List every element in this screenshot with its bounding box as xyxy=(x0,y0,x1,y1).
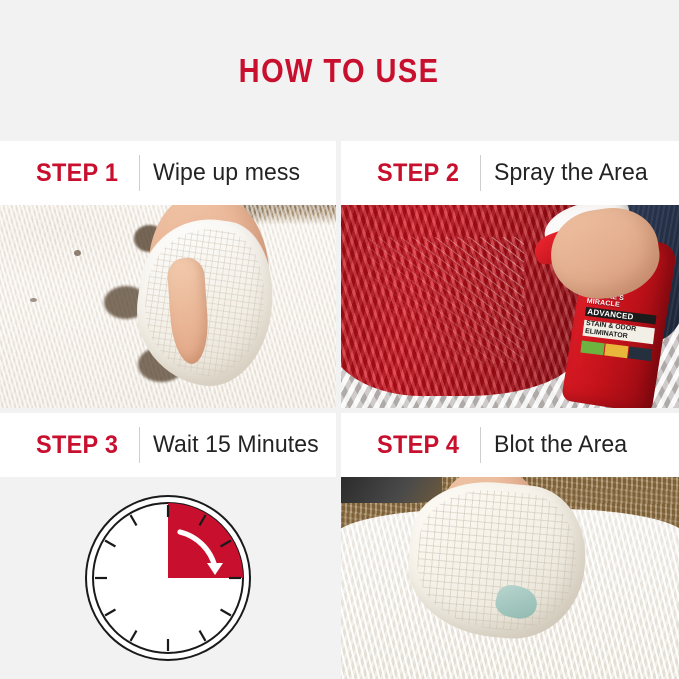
dirt-speck xyxy=(74,250,81,256)
how-to-use-infographic: HOW TO USE STEP 1 Wipe up mess xyxy=(0,0,679,679)
page-header: HOW TO USE xyxy=(0,0,679,141)
clock-elapsed-wedge xyxy=(168,503,243,578)
step-1-number: STEP 1 xyxy=(36,159,118,188)
step-panel-1: STEP 1 Wipe up mess xyxy=(0,141,336,408)
step-cell-1: STEP 1 Wipe up mess xyxy=(0,141,336,408)
step-1-media xyxy=(0,205,336,408)
step-3-header: STEP 3 Wait 15 Minutes xyxy=(0,413,336,477)
step-2-title: Spray the Area xyxy=(494,159,648,187)
step-4-photo xyxy=(341,477,679,679)
step-4-title: Blot the Area xyxy=(494,431,627,459)
step-4-number: STEP 4 xyxy=(377,431,459,460)
step-cell-3: STEP 3 Wait 15 Minutes xyxy=(0,408,336,679)
step-3-media xyxy=(0,477,336,679)
step-4-header: STEP 4 Blot the Area xyxy=(341,413,679,477)
step-1-title: Wipe up mess xyxy=(153,159,300,187)
clock-timer-illustration xyxy=(83,493,253,663)
label-swatch-green xyxy=(581,341,605,356)
step-panel-2: STEP 2 Spray the Area NATURE'S MIRACLE xyxy=(341,141,679,408)
step-4-media xyxy=(341,477,679,679)
step-2-photo: NATURE'S MIRACLE ADVANCED STAIN & ODOR E… xyxy=(341,205,679,408)
step-3-number: STEP 3 xyxy=(36,431,118,460)
step-panel-4: STEP 4 Blot the Area xyxy=(341,413,679,679)
steps-grid: STEP 1 Wipe up mess xyxy=(0,141,679,679)
step-2-media: NATURE'S MIRACLE ADVANCED STAIN & ODOR E… xyxy=(341,205,679,408)
step-2-number: STEP 2 xyxy=(377,159,459,188)
step-panel-3: STEP 3 Wait 15 Minutes xyxy=(0,413,336,679)
label-color-strip xyxy=(581,341,653,362)
step-3-title: Wait 15 Minutes xyxy=(153,431,319,459)
step-2-divider xyxy=(480,155,481,191)
label-swatch-dark xyxy=(628,347,652,362)
step-1-divider xyxy=(139,155,140,191)
step-cell-2: STEP 2 Spray the Area NATURE'S MIRACLE xyxy=(336,141,679,408)
step-1-header: STEP 1 Wipe up mess xyxy=(0,141,336,205)
dark-object xyxy=(341,477,442,503)
step-4-divider xyxy=(480,427,481,463)
page-title: HOW TO USE xyxy=(239,54,440,87)
step-1-photo xyxy=(0,205,336,408)
step-3-divider xyxy=(139,427,140,463)
spray-mist xyxy=(368,237,523,363)
product-label: NATURE'S MIRACLE ADVANCED STAIN & ODOR E… xyxy=(577,291,658,388)
step-cell-4: STEP 4 Blot the Area xyxy=(336,408,679,679)
step-2-header: STEP 2 Spray the Area xyxy=(341,141,679,205)
label-swatch-yellow xyxy=(604,344,628,359)
